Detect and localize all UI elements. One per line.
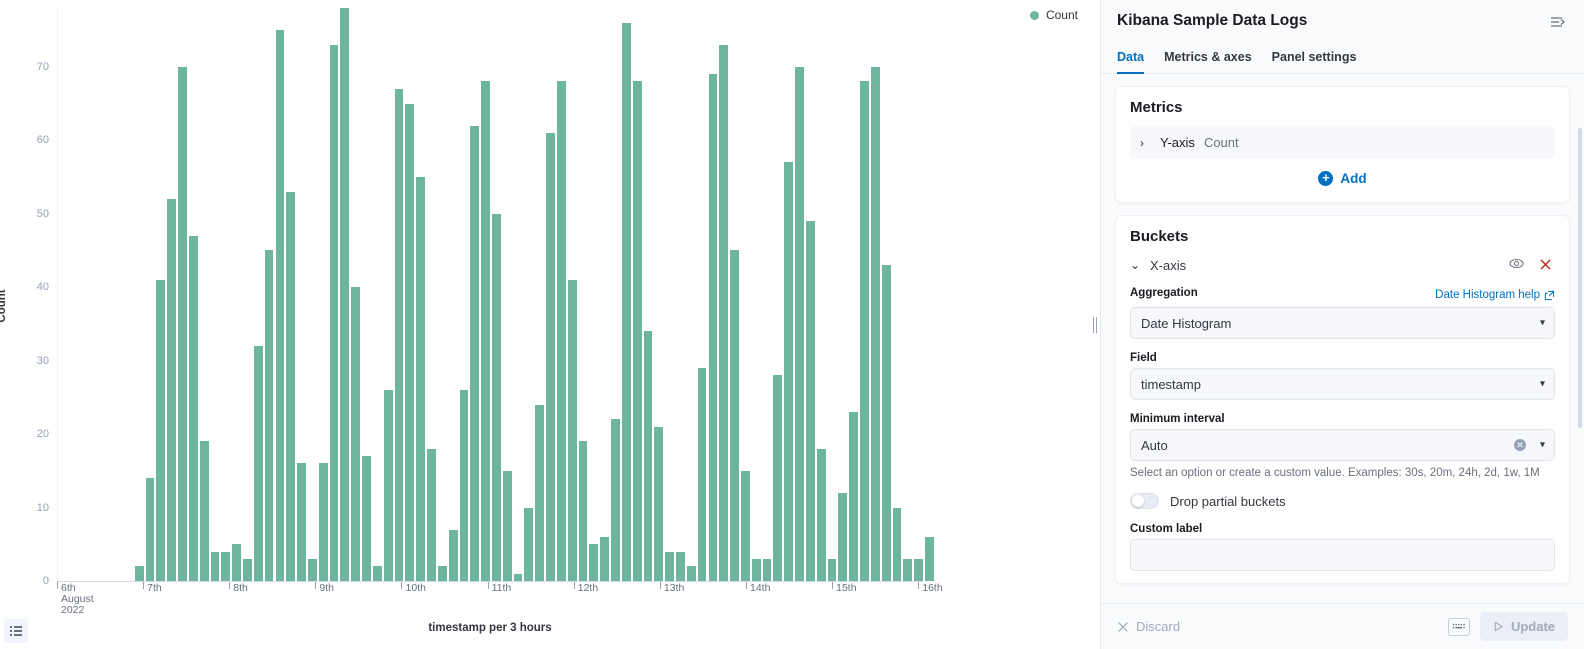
- bar[interactable]: [437, 566, 448, 581]
- field-select[interactable]: timestamp ▾: [1130, 368, 1555, 400]
- panel-scrollbar[interactable]: [1578, 128, 1582, 428]
- bar[interactable]: [329, 45, 340, 581]
- bar[interactable]: [188, 236, 199, 581]
- bar[interactable]: [837, 493, 848, 581]
- panel-scroll-region: Metrics › Y-axis Count + Add Buckets ⌄ X…: [1101, 74, 1584, 603]
- bar[interactable]: [892, 508, 903, 581]
- metric-row-y-axis[interactable]: › Y-axis Count: [1130, 126, 1555, 159]
- y-tick-label: 10: [37, 502, 58, 514]
- bar[interactable]: [275, 30, 286, 581]
- legend-color-dot: [1030, 11, 1039, 20]
- buckets-title: Buckets: [1130, 228, 1555, 245]
- play-icon: [1493, 621, 1504, 632]
- bar[interactable]: [339, 8, 350, 581]
- bar[interactable]: [740, 471, 751, 581]
- chart-pane: Count Count 010203040506070 6th August 2…: [0, 0, 1090, 649]
- bar[interactable]: [772, 375, 783, 581]
- bar[interactable]: [523, 508, 534, 581]
- bar[interactable]: [762, 559, 773, 581]
- minimum-interval-value: Auto: [1141, 438, 1168, 453]
- bar[interactable]: [578, 441, 589, 581]
- x-tick-label: 10th: [401, 583, 425, 594]
- bar[interactable]: [805, 221, 816, 581]
- bar[interactable]: [220, 552, 231, 581]
- y-tick-label: 20: [37, 428, 58, 440]
- bar[interactable]: [902, 559, 913, 581]
- bar[interactable]: [469, 126, 480, 581]
- eye-icon: [1509, 256, 1524, 271]
- bar[interactable]: [177, 67, 188, 581]
- bar[interactable]: [296, 463, 307, 581]
- aggregation-value: Date Histogram: [1141, 316, 1231, 331]
- bar[interactable]: [816, 449, 827, 581]
- y-tick-label: 60: [37, 134, 58, 146]
- metric-row-name: Y-axis: [1160, 135, 1195, 150]
- bar[interactable]: [166, 199, 177, 581]
- bar[interactable]: [697, 368, 708, 581]
- x-tick-label: 8th: [229, 583, 248, 594]
- bar[interactable]: [264, 250, 275, 581]
- bar[interactable]: [350, 287, 361, 581]
- bar[interactable]: [556, 81, 567, 581]
- x-tick-label: 16th: [918, 583, 942, 594]
- bar[interactable]: [513, 574, 524, 581]
- bar[interactable]: [415, 177, 426, 581]
- x-tick-label: 14th: [746, 583, 770, 594]
- metrics-title: Metrics: [1130, 99, 1555, 116]
- bar[interactable]: [534, 405, 545, 581]
- x-tick-label: 9th: [315, 583, 334, 594]
- bar[interactable]: [394, 89, 405, 581]
- chevron-down-icon: ▾: [1540, 318, 1545, 329]
- x-tick-label: 6th August 2022: [57, 583, 94, 616]
- bar[interactable]: [610, 419, 621, 581]
- editor-side-panel: Kibana Sample Data Logs DataMetrics & ax…: [1100, 0, 1584, 649]
- y-tick-label: 30: [37, 355, 58, 367]
- bar[interactable]: [686, 566, 697, 581]
- chevron-down-icon: ⌄: [1130, 259, 1141, 271]
- bar[interactable]: [426, 449, 437, 581]
- bar[interactable]: [372, 566, 383, 581]
- minimum-interval-combobox[interactable]: Auto ✕ ▾: [1130, 429, 1555, 461]
- bar[interactable]: [383, 390, 394, 581]
- panel-resize-handle[interactable]: [1090, 0, 1100, 649]
- panel-header: Kibana Sample Data Logs: [1101, 0, 1584, 37]
- bar[interactable]: [567, 280, 578, 581]
- panel-title: Kibana Sample Data Logs: [1117, 12, 1307, 30]
- custom-label-label: Custom label: [1130, 523, 1555, 535]
- bar[interactable]: [599, 537, 610, 581]
- bucket-header-x-axis[interactable]: ⌄ X-axis: [1130, 255, 1555, 275]
- metric-row-sub: Count: [1204, 135, 1239, 150]
- bar[interactable]: [404, 104, 415, 582]
- bar[interactable]: [231, 544, 242, 581]
- bar[interactable]: [783, 162, 794, 581]
- toggle-visibility-icon[interactable]: [1506, 255, 1527, 275]
- chevron-down-icon: ▾: [1540, 440, 1545, 451]
- update-label: Update: [1511, 619, 1555, 634]
- bar[interactable]: [870, 67, 881, 581]
- close-icon: [1539, 258, 1552, 271]
- bar[interactable]: [664, 552, 675, 581]
- x-tick-label: 12th: [574, 583, 598, 594]
- bar[interactable]: [588, 544, 599, 581]
- bar[interactable]: [718, 45, 729, 581]
- bar[interactable]: [794, 67, 805, 581]
- buckets-card: Buckets ⌄ X-axis: [1115, 215, 1570, 584]
- bar[interactable]: [318, 463, 329, 581]
- collapse-panel-icon[interactable]: [1548, 12, 1568, 37]
- minimum-interval-hint: Select an option or create a custom valu…: [1130, 466, 1555, 481]
- list-icon: [9, 624, 23, 638]
- bar[interactable]: [913, 559, 924, 581]
- bar[interactable]: [924, 537, 935, 581]
- bar[interactable]: [155, 280, 166, 581]
- bar[interactable]: [643, 331, 654, 581]
- bar[interactable]: [361, 456, 372, 581]
- aggregation-label-row: Aggregation Date Histogram help: [1130, 287, 1555, 303]
- update-button[interactable]: Update: [1480, 612, 1568, 641]
- bar[interactable]: [621, 23, 632, 581]
- bar[interactable]: [881, 265, 892, 581]
- menu-right-icon: [1550, 14, 1566, 30]
- tab-panel-settings[interactable]: Panel settings: [1272, 46, 1357, 74]
- aggregation-label: Aggregation: [1130, 287, 1198, 299]
- x-tick-label: 7th: [143, 583, 162, 594]
- kibana-visualize-editor: Count Count 010203040506070 6th August 2…: [0, 0, 1584, 649]
- keyboard-icon: [1452, 622, 1466, 631]
- bar[interactable]: [134, 566, 145, 581]
- minimum-interval-label: Minimum interval: [1130, 413, 1555, 425]
- external-link-icon: [1544, 290, 1555, 301]
- discard-label: Discard: [1136, 619, 1180, 634]
- bar[interactable]: [751, 559, 762, 581]
- help-link-text: Date Histogram help: [1435, 289, 1540, 301]
- bucket-name: X-axis: [1150, 258, 1186, 273]
- add-metric-button[interactable]: + Add: [1130, 159, 1555, 190]
- keyboard-shortcuts-button[interactable]: [1448, 618, 1470, 636]
- bar[interactable]: [242, 559, 253, 581]
- y-tick-label: 40: [37, 281, 58, 293]
- y-axis-title: Count: [0, 289, 8, 322]
- legend-toggle-button[interactable]: [4, 619, 28, 643]
- close-icon: [1117, 621, 1129, 633]
- bar[interactable]: [632, 81, 643, 581]
- bar[interactable]: [480, 81, 491, 581]
- bar[interactable]: [285, 192, 296, 581]
- remove-bucket-icon[interactable]: [1536, 257, 1555, 274]
- chart-legend[interactable]: Count: [1030, 8, 1078, 22]
- grip-icon: [1093, 317, 1097, 333]
- plus-icon: +: [1318, 171, 1333, 186]
- tab-metrics-axes[interactable]: Metrics & axes: [1164, 46, 1252, 74]
- custom-label-input[interactable]: [1130, 539, 1555, 571]
- chevron-down-icon: ▾: [1540, 379, 1545, 390]
- clear-icon[interactable]: ✕: [1514, 439, 1526, 451]
- legend-label: Count: [1046, 8, 1078, 22]
- y-tick-label: 50: [37, 208, 58, 220]
- bar[interactable]: [145, 478, 156, 581]
- x-tick-label: 15th: [832, 583, 856, 594]
- bar[interactable]: [708, 74, 719, 581]
- bar[interactable]: [199, 441, 210, 581]
- bar[interactable]: [653, 427, 664, 581]
- bar[interactable]: [675, 552, 686, 581]
- bar[interactable]: [253, 346, 264, 581]
- bar[interactable]: [210, 552, 221, 581]
- discard-button[interactable]: Discard: [1117, 619, 1180, 634]
- x-tick-label: 13th: [660, 583, 684, 594]
- bar[interactable]: [545, 133, 556, 581]
- bar[interactable]: [502, 471, 513, 581]
- add-metric-label: Add: [1340, 171, 1366, 186]
- date-histogram-help-link[interactable]: Date Histogram help: [1435, 289, 1555, 301]
- bar[interactable]: [848, 412, 859, 581]
- x-axis-ticks: 6th August 20227th8th9th10th11th12th13th…: [57, 582, 923, 622]
- bar[interactable]: [459, 390, 470, 581]
- chevron-right-icon: ›: [1140, 137, 1151, 149]
- x-tick-label: 11th: [488, 583, 512, 594]
- drop-partial-buckets-toggle[interactable]: [1130, 493, 1159, 509]
- x-axis-title: timestamp per 3 hours: [57, 622, 923, 634]
- toggle-knob: [1132, 495, 1144, 507]
- aggregation-select[interactable]: Date Histogram ▾: [1130, 307, 1555, 339]
- y-tick-label: 0: [43, 575, 58, 587]
- metrics-card: Metrics › Y-axis Count + Add: [1115, 86, 1570, 203]
- bar[interactable]: [859, 81, 870, 581]
- field-label: Field: [1130, 352, 1555, 364]
- panel-tabs[interactable]: DataMetrics & axesPanel settings: [1101, 46, 1584, 74]
- bar-series[interactable]: [58, 8, 923, 581]
- bar[interactable]: [307, 559, 318, 581]
- tab-data[interactable]: Data: [1117, 46, 1144, 74]
- y-tick-label: 70: [37, 61, 58, 73]
- plot-area[interactable]: 010203040506070: [57, 8, 923, 581]
- drop-partial-buckets-row[interactable]: Drop partial buckets: [1130, 493, 1555, 509]
- bar[interactable]: [491, 214, 502, 581]
- drop-partial-buckets-label: Drop partial buckets: [1170, 494, 1286, 509]
- bar[interactable]: [729, 250, 740, 581]
- field-value: timestamp: [1141, 377, 1201, 392]
- bar[interactable]: [448, 530, 459, 581]
- bar[interactable]: [827, 559, 838, 581]
- panel-footer: Discard Update: [1101, 603, 1584, 649]
